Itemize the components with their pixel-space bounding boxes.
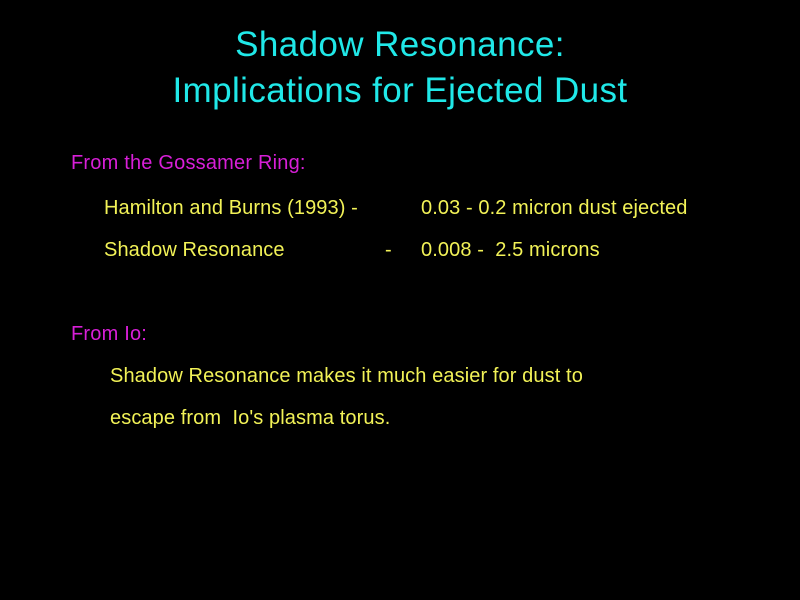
row-shadow-resonance-label: Shadow Resonance xyxy=(104,238,285,262)
io-body-line-2: escape from Io's plasma torus. xyxy=(110,406,390,430)
section-heading-io: From Io: xyxy=(71,322,147,346)
io-body-line-1: Shadow Resonance makes it much easier fo… xyxy=(110,364,583,388)
row-hamilton-burns-value: 0.03 - 0.2 micron dust ejected xyxy=(421,196,687,220)
row-shadow-resonance-dash: - xyxy=(385,238,392,262)
slide-title-line-2: Implications for Ejected Dust xyxy=(0,68,800,114)
presentation-slide: Shadow Resonance: Implications for Eject… xyxy=(0,0,800,600)
slide-title: Shadow Resonance: Implications for Eject… xyxy=(0,22,800,114)
row-shadow-resonance-value: 0.008 - 2.5 microns xyxy=(421,238,600,262)
row-hamilton-burns-label: Hamilton and Burns (1993) - xyxy=(104,196,358,220)
slide-title-line-1: Shadow Resonance: xyxy=(0,22,800,68)
section-heading-gossamer-ring: From the Gossamer Ring: xyxy=(71,151,306,175)
